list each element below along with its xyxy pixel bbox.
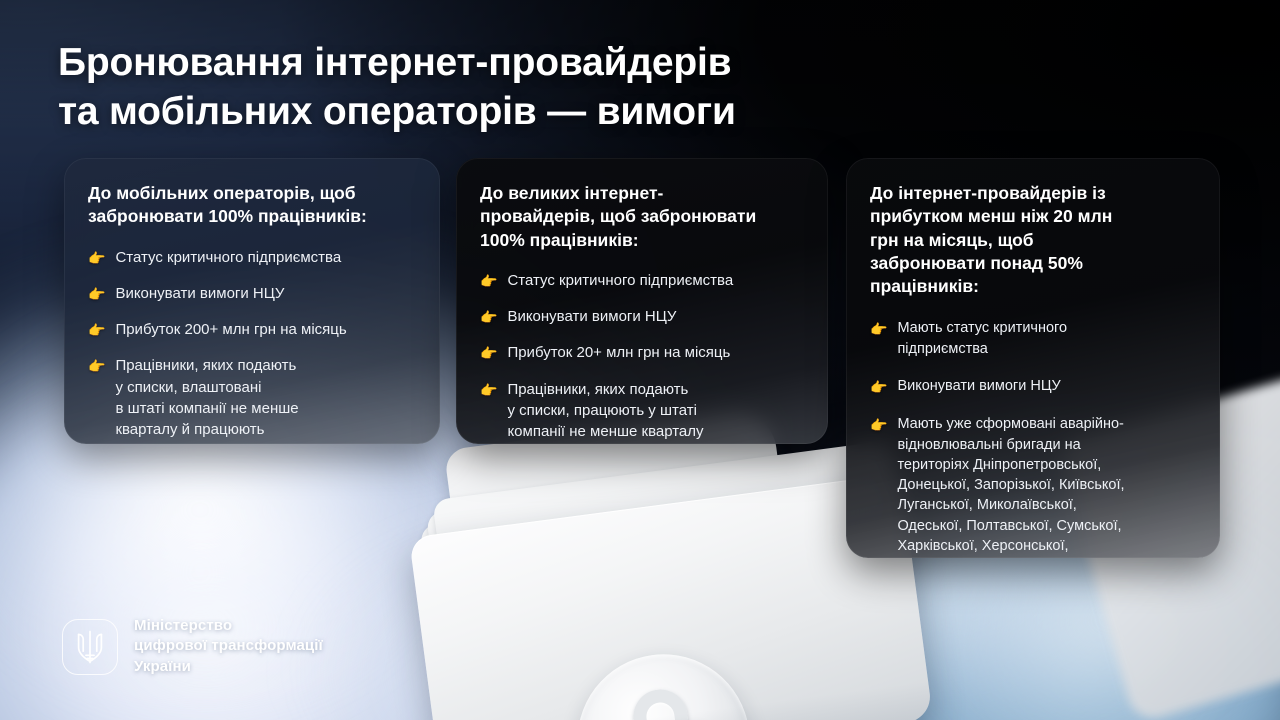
list-item-label: Статус критичного підприємства <box>507 270 733 291</box>
ministry-name: Міністерство цифрової трансформації Укра… <box>134 616 323 677</box>
list-item-label: Виконувати вимоги НЦУ <box>507 306 676 327</box>
pointing-hand-icon: 👉 <box>88 284 105 304</box>
infographic-poster: Бронювання інтернет-провайдерів та мобіл… <box>0 0 1280 720</box>
pointing-hand-icon: 👉 <box>88 356 105 376</box>
pointing-hand-icon: 👉 <box>88 320 105 340</box>
requirements-list: 👉 Мають статус критичного підприємства 👉… <box>870 318 1198 558</box>
card-heading: До великих інтернет- провайдерів, щоб за… <box>480 182 806 252</box>
list-item: 👉 Працівники, яких подають у списки, вла… <box>88 355 418 444</box>
list-item: 👉 Мають уже сформовані аварійно- відновл… <box>870 414 1198 558</box>
list-item: 👉 Статус критичного підприємства <box>88 247 418 268</box>
list-item-label: Працівники, яких подають у списки, влашт… <box>115 355 298 444</box>
list-item-label: Виконувати вимоги НЦУ <box>897 376 1060 396</box>
pointing-hand-icon: 👉 <box>870 377 887 397</box>
page-title: Бронювання інтернет-провайдерів та мобіл… <box>58 38 938 136</box>
list-item-label: Працівники, яких подають у списки, працю… <box>507 379 741 444</box>
requirements-list: 👉 Статус критичного підприємства 👉 Викон… <box>88 247 418 444</box>
pointing-hand-icon: 👉 <box>480 271 497 291</box>
list-item-label: Мають уже сформовані аварійно- відновлюв… <box>897 414 1124 558</box>
requirements-list: 👉 Статус критичного підприємства 👉 Викон… <box>480 270 806 444</box>
requirements-card-small-isp: До інтернет-провайдерів із прибутком мен… <box>846 158 1220 558</box>
pointing-hand-icon: 👉 <box>480 380 497 400</box>
pointing-hand-icon: 👉 <box>480 307 497 327</box>
list-item: 👉 Прибуток 20+ млн грн на місяць <box>480 342 806 363</box>
list-item: 👉 Прибуток 200+ млн грн на місяць <box>88 319 418 340</box>
requirements-card-large-isp: До великих інтернет- провайдерів, щоб за… <box>456 158 828 444</box>
ukraine-trident-icon <box>62 619 118 675</box>
list-item: 👉 Виконувати вимоги НЦУ <box>870 376 1198 397</box>
list-item: 👉 Виконувати вимоги НЦУ <box>88 283 418 304</box>
ministry-branding: Міністерство цифрової трансформації Укра… <box>62 616 323 677</box>
pointing-hand-icon: 👉 <box>480 343 497 363</box>
requirements-card-mobile-operators: До мобільних операторів, щоб забронювати… <box>64 158 440 444</box>
list-item: 👉 Працівники, яких подають у списки, пра… <box>480 379 806 444</box>
list-item: 👉 Статус критичного підприємства <box>480 270 806 291</box>
pointing-hand-icon: 👉 <box>88 248 105 268</box>
list-item: 👉 Виконувати вимоги НЦУ <box>480 306 806 327</box>
list-item-label: Прибуток 200+ млн грн на місяць <box>115 319 346 340</box>
list-item-label: Мають статус критичного підприємства <box>897 318 1067 359</box>
list-item: 👉 Мають статус критичного підприємства <box>870 318 1198 359</box>
card-heading: До мобільних операторів, щоб забронювати… <box>88 182 418 229</box>
pointing-hand-icon: 👉 <box>870 319 887 339</box>
pointing-hand-icon: 👉 <box>870 415 887 435</box>
list-item-label: Прибуток 20+ млн грн на місяць <box>507 342 730 363</box>
card-heading: До інтернет-провайдерів із прибутком мен… <box>870 182 1198 298</box>
list-item-label: Виконувати вимоги НЦУ <box>115 283 284 304</box>
list-item-label: Статус критичного підприємства <box>115 247 341 268</box>
